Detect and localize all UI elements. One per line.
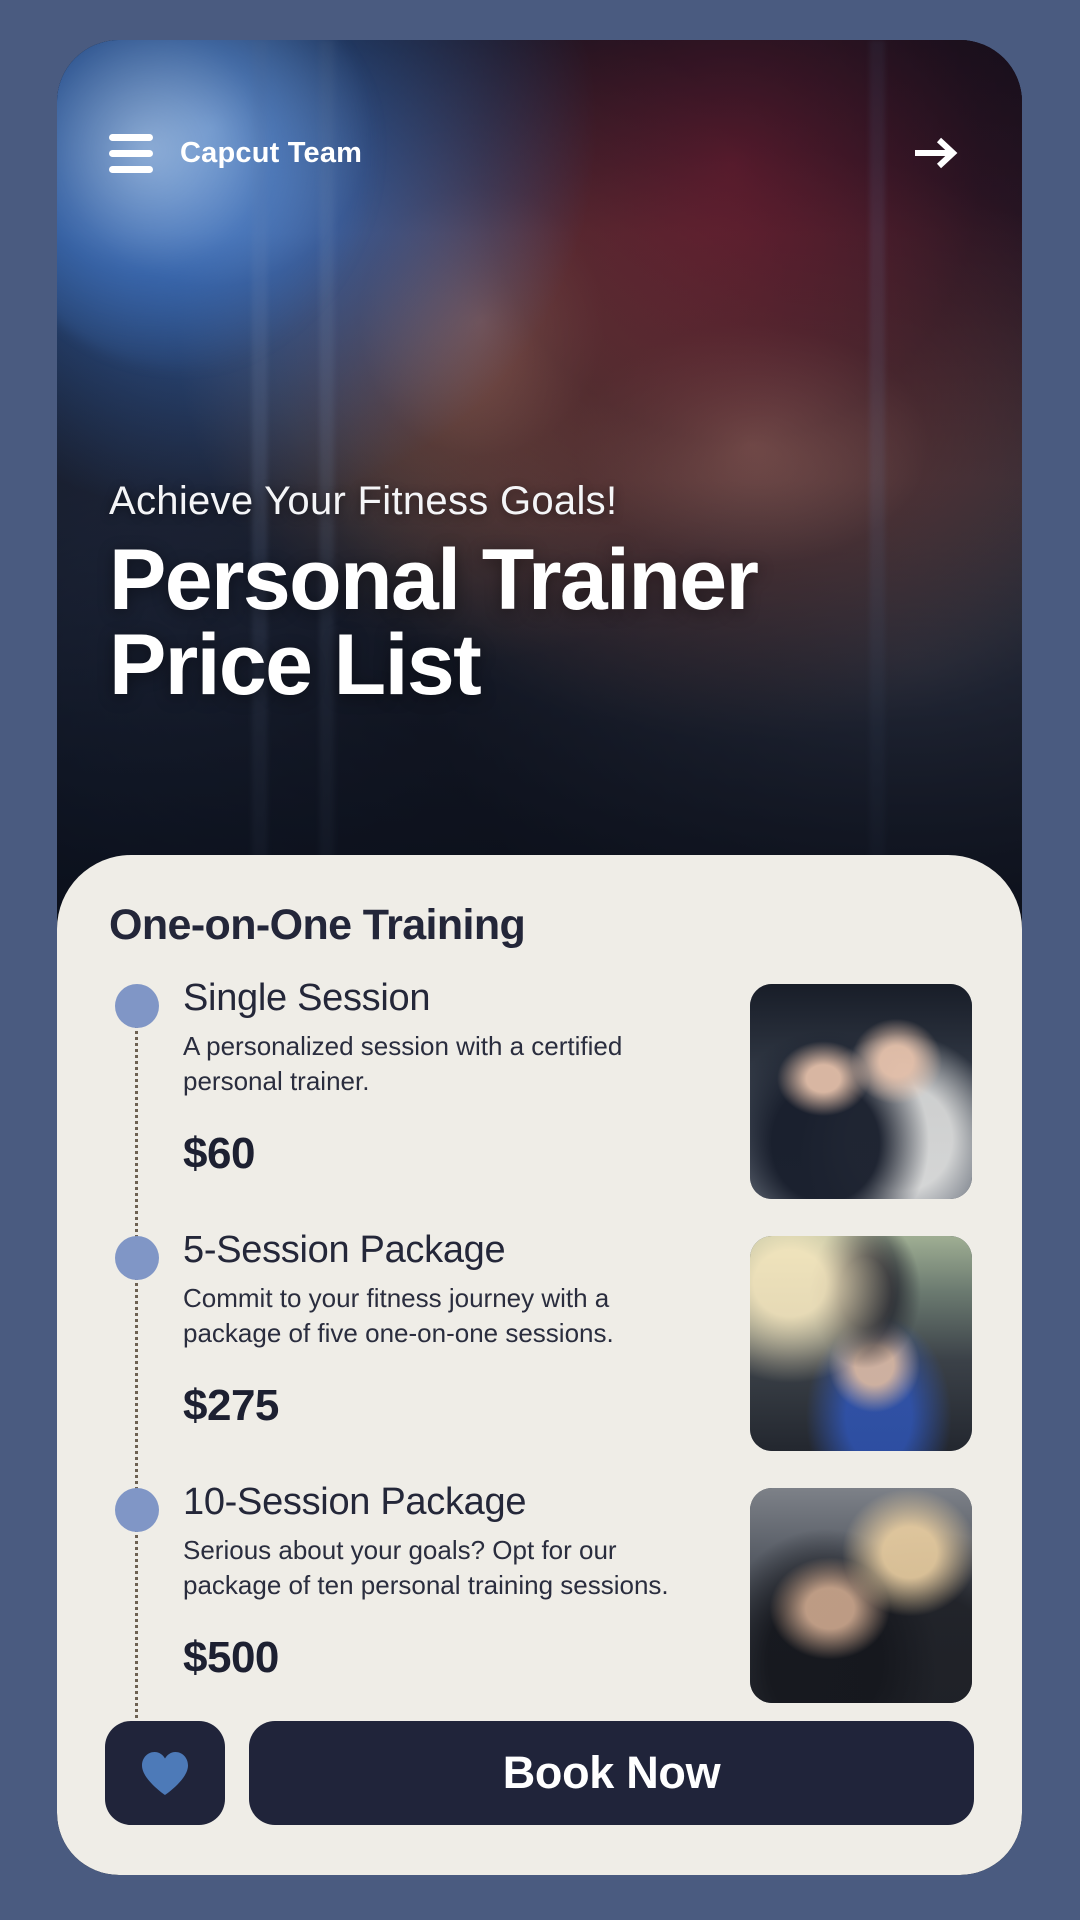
phone-frame: Capcut Team Achieve Your Fitness Goals! … bbox=[57, 40, 1022, 1875]
plan-thumbnail bbox=[750, 1236, 972, 1451]
plan-price: $500 bbox=[183, 1633, 713, 1683]
hamburger-menu-icon[interactable] bbox=[109, 134, 153, 173]
plan-price: $275 bbox=[183, 1381, 713, 1431]
action-bar: Book Now bbox=[105, 1721, 974, 1825]
plan-thumbnail bbox=[750, 1488, 972, 1703]
plan-thumbnail bbox=[750, 984, 972, 1199]
hero-banner: Capcut Team Achieve Your Fitness Goals! … bbox=[57, 40, 1022, 920]
hamburger-line bbox=[109, 134, 153, 141]
plan-name: 5-Session Package bbox=[183, 1230, 713, 1271]
plan-thumbnail-image bbox=[750, 1236, 972, 1451]
plan-thumbnail-image bbox=[750, 984, 972, 1199]
heart-icon bbox=[139, 1749, 191, 1797]
plan-name: Single Session bbox=[183, 978, 713, 1019]
pricing-list: Single Session A personalized session wi… bbox=[105, 978, 974, 1734]
plan-body: Single Session A personalized session wi… bbox=[183, 978, 713, 1179]
plan-name: 10-Session Package bbox=[183, 1482, 713, 1523]
book-now-button[interactable]: Book Now bbox=[249, 1721, 974, 1825]
timeline-bullet-icon bbox=[115, 1488, 159, 1532]
page-title: Personal Trainer Price List bbox=[109, 538, 929, 708]
pricing-card: One-on-One Training Single Session A per… bbox=[57, 855, 1022, 1875]
list-item[interactable]: Single Session A personalized session wi… bbox=[105, 978, 974, 1230]
list-item[interactable]: 10-Session Package Serious about your go… bbox=[105, 1482, 974, 1734]
plan-body: 10-Session Package Serious about your go… bbox=[183, 1482, 713, 1683]
hamburger-line bbox=[109, 150, 153, 157]
favorite-button[interactable] bbox=[105, 1721, 225, 1825]
plan-body: 5-Session Package Commit to your fitness… bbox=[183, 1230, 713, 1431]
timeline-bullet-icon bbox=[115, 984, 159, 1028]
section-title: One-on-One Training bbox=[109, 901, 974, 950]
brand-title: Capcut Team bbox=[180, 137, 362, 170]
plan-thumbnail-image bbox=[750, 1488, 972, 1703]
arrow-right-icon[interactable] bbox=[908, 130, 964, 176]
top-bar: Capcut Team bbox=[57, 118, 1022, 188]
list-item[interactable]: 5-Session Package Commit to your fitness… bbox=[105, 1230, 974, 1482]
headline-line-2: Price List bbox=[109, 623, 929, 708]
plan-description: Commit to your fitness journey with a pa… bbox=[183, 1281, 713, 1351]
headline-line-1: Personal Trainer bbox=[109, 538, 929, 623]
timeline-bullet-icon bbox=[115, 1236, 159, 1280]
hero-copy: Achieve Your Fitness Goals! Personal Tra… bbox=[109, 479, 929, 708]
hero-eyebrow: Achieve Your Fitness Goals! bbox=[109, 479, 929, 524]
hamburger-line bbox=[109, 166, 153, 173]
plan-description: A personalized session with a certified … bbox=[183, 1029, 713, 1099]
plan-price: $60 bbox=[183, 1129, 713, 1179]
plan-description: Serious about your goals? Opt for our pa… bbox=[183, 1533, 713, 1603]
